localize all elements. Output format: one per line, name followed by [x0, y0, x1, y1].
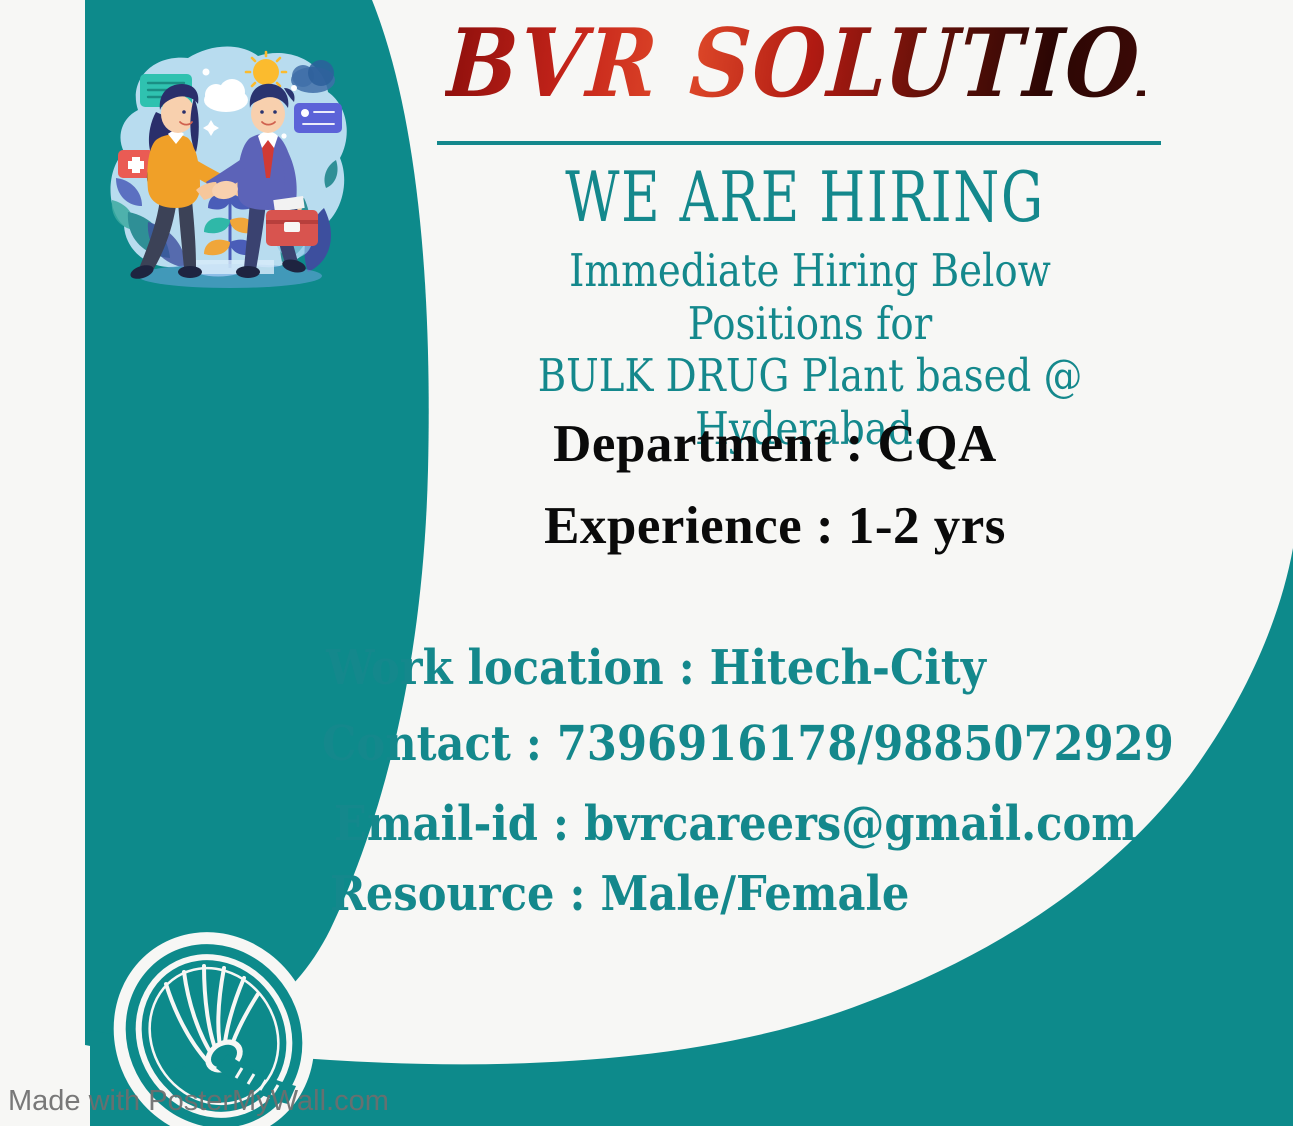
- title-divider: [437, 141, 1161, 145]
- detail-email[interactable]: Email-id : bvrcareers@gmail.com: [334, 796, 1137, 852]
- postermywall-watermark: Made with PosterMyWall.com: [8, 1085, 389, 1118]
- detail-resource: Resource : Male/Female: [330, 866, 909, 922]
- poster-text-content: BVR SOLUTIONS WE ARE HIRING Immediate Hi…: [0, 0, 1293, 1126]
- detail-contact[interactable]: Contact : 7396916178/9885072929: [322, 716, 1174, 772]
- subtitle-line-1: Immediate Hiring Below Positions for: [483, 245, 1137, 350]
- role-experience: Experience : 1-2 yrs: [380, 496, 1170, 556]
- role-department: Department : CQA: [380, 414, 1170, 474]
- poster-canvas: BVR SOLUTIONS WE ARE HIRING Immediate Hi…: [0, 0, 1293, 1126]
- detail-work-location: Work location : Hitech-City: [326, 640, 986, 696]
- brand-title: BVR SOLUTIONS: [444, 14, 1150, 113]
- hiring-heading: WE ARE HIRING: [513, 157, 1097, 238]
